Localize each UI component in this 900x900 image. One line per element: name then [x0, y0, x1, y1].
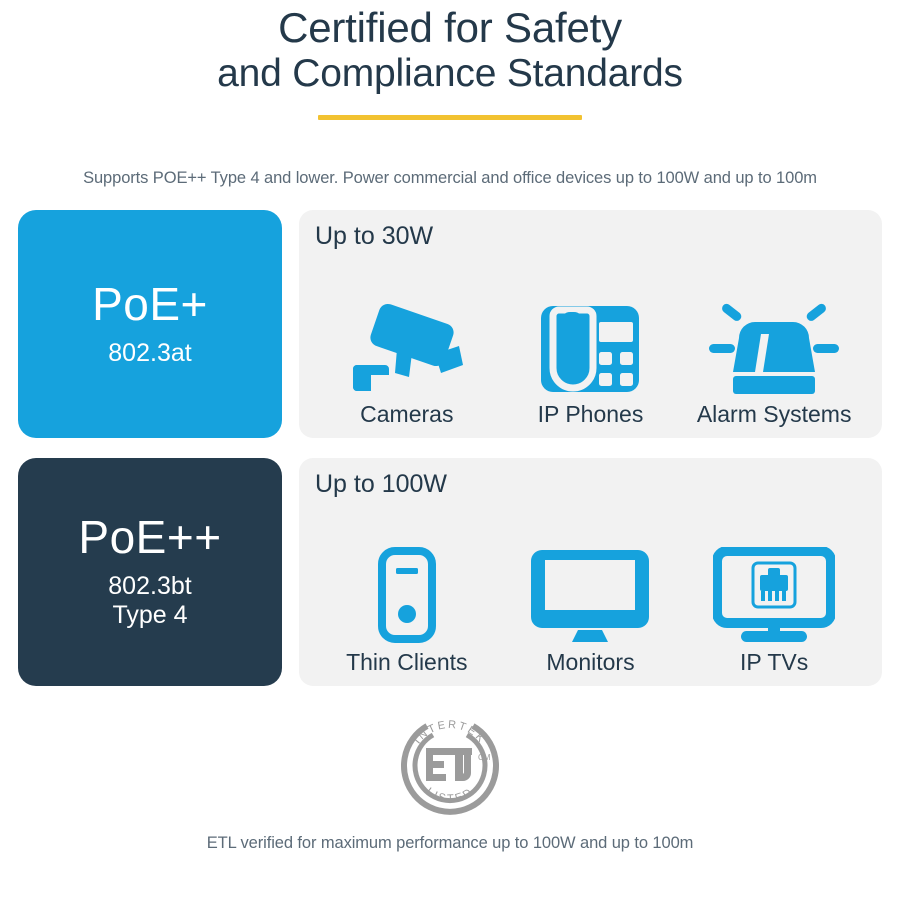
power-heading: Up to 30W	[315, 224, 866, 249]
etl-cm-mark: CM	[478, 753, 491, 762]
device-ip-phones: IP Phones	[500, 297, 682, 426]
standard-spec-line-2: Type 4	[108, 601, 191, 630]
device-label: Monitors	[546, 651, 634, 674]
ip-tv-icon	[713, 545, 835, 645]
footer-note: ETL verified for maximum performance up …	[0, 834, 900, 853]
page-title-line-2: and Compliance Standards	[0, 52, 900, 96]
device-alarm-systems: Alarm Systems	[683, 297, 865, 426]
page-title-line-1: Certified for Safety	[0, 4, 900, 52]
etl-intertek-listed-logo: CM INTERTEK LISTED	[394, 708, 506, 820]
ip-phone-icon	[539, 297, 641, 397]
device-monitors: Monitors	[500, 545, 682, 674]
standard-name: PoE++	[78, 514, 221, 560]
gold-divider	[318, 115, 582, 120]
thin-client-icon	[378, 545, 436, 645]
power-heading: Up to 100W	[315, 472, 866, 497]
standard-card-poe-plus: PoE+ 802.3at	[18, 210, 282, 438]
devices-panel-30w: Up to 30W	[299, 210, 882, 438]
alarm-siren-icon	[709, 297, 839, 397]
standard-name: PoE+	[92, 281, 208, 327]
device-ip-tvs: IP TVs	[683, 545, 865, 674]
security-camera-icon	[351, 297, 463, 397]
standard-spec: 802.3bt Type 4	[108, 572, 191, 630]
etl-logo-wrap: CM INTERTEK LISTED	[0, 708, 900, 820]
device-cameras: Cameras	[316, 297, 498, 426]
device-thin-clients: Thin Clients	[316, 545, 498, 674]
device-grid: Cameras	[315, 253, 866, 426]
page-header: Certified for Safety and Compliance Stan…	[0, 0, 900, 188]
poe-standards-list: PoE+ 802.3at Up to 30W	[0, 210, 900, 686]
device-grid: Thin Clients Monitors	[315, 501, 866, 674]
device-label: Cameras	[360, 403, 453, 426]
page-footer: CM INTERTEK LISTED ETL verified for maxi…	[0, 708, 900, 853]
standard-spec-line-1: 802.3bt	[108, 572, 191, 601]
devices-panel-100w: Up to 100W Thin Clients	[299, 458, 882, 686]
device-label: IP Phones	[538, 403, 644, 426]
poe-row: PoE+ 802.3at Up to 30W	[18, 210, 882, 438]
page-subtitle: Supports POE++ Type 4 and lower. Power c…	[0, 169, 900, 188]
etl-top-text: INTERTEK	[412, 719, 489, 747]
device-label: Thin Clients	[346, 651, 467, 674]
standard-card-poe-plus-plus: PoE++ 802.3bt Type 4	[18, 458, 282, 686]
etl-bottom-text: LISTED	[424, 786, 476, 806]
device-label: IP TVs	[740, 651, 808, 674]
poe-row: PoE++ 802.3bt Type 4 Up to 100W T	[18, 458, 882, 686]
standard-spec: 802.3at	[108, 339, 191, 368]
monitor-icon	[529, 545, 651, 645]
device-label: Alarm Systems	[697, 403, 852, 426]
